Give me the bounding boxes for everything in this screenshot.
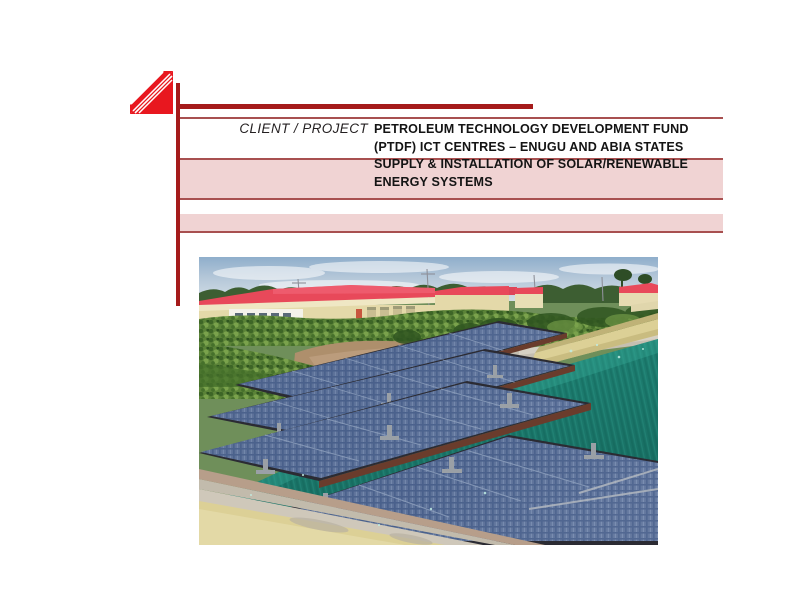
pink-band-2: [180, 214, 723, 231]
slide-canvas: CLIENT / PROJECT PETROLEUM TECHNOLOGY DE…: [0, 0, 792, 612]
project-line-1: PETROLEUM TECHNOLOGY DEVELOPMENT FUND: [374, 121, 724, 139]
client-project-label: CLIENT / PROJECT: [200, 121, 368, 136]
project-line-3: SUPPLY & INSTALLATION OF SOLAR/RENEWABLE: [374, 156, 724, 174]
top-accent-bar: [176, 104, 533, 109]
horizontal-rule-3: [180, 198, 723, 200]
project-title-block: PETROLEUM TECHNOLOGY DEVELOPMENT FUND (P…: [374, 121, 724, 191]
red-slash-logo: [130, 71, 173, 114]
solar-panel-rooftop-photo: [199, 257, 658, 545]
project-line-2: (PTDF) ICT CENTRES – ENUGU AND ABIA STAT…: [374, 139, 724, 157]
horizontal-rule-4: [180, 231, 723, 233]
project-line-4: ENERGY SYSTEMS: [374, 174, 724, 192]
horizontal-rule-1: [180, 117, 723, 119]
